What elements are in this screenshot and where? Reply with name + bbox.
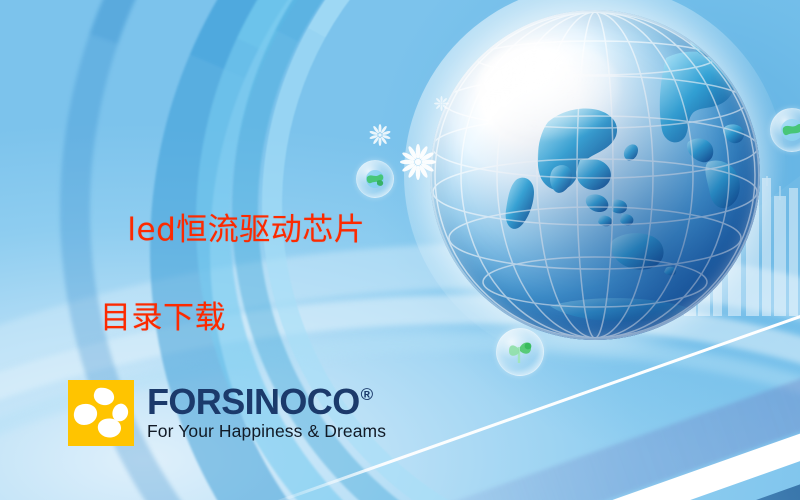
globe-sphere (430, 10, 760, 340)
bubble-leaf-icon (497, 329, 543, 375)
headline-line-1: led恒流驱动芯片 (127, 212, 365, 248)
promo-banner: led恒流驱动芯片 目录下载 FORSINOCO ® For Your Happ… (0, 0, 800, 500)
pinwheel-flower-icon (68, 380, 134, 446)
globe-rim (430, 10, 760, 340)
daisy-tiny-icon (434, 96, 449, 111)
brand-name: FORSINOCO (147, 384, 360, 419)
registered-mark: ® (361, 386, 373, 403)
logo-text: FORSINOCO ® For Your Happiness & Dreams (147, 380, 386, 442)
logo-mark (68, 380, 134, 446)
brand-tagline: For Your Happiness & Dreams (147, 422, 386, 441)
bubble-globe-edge (770, 108, 800, 152)
bubble-leaf (496, 328, 544, 376)
earth-globe (430, 10, 760, 340)
brand-logo: FORSINOCO ® For Your Happiness & Dreams (68, 380, 386, 446)
brand-name-row: FORSINOCO ® (147, 384, 386, 419)
headline-line-2: 目录下载 (86, 296, 426, 340)
bubble-globe-edge-icon (771, 109, 800, 151)
daisy-small-icon (369, 124, 391, 146)
